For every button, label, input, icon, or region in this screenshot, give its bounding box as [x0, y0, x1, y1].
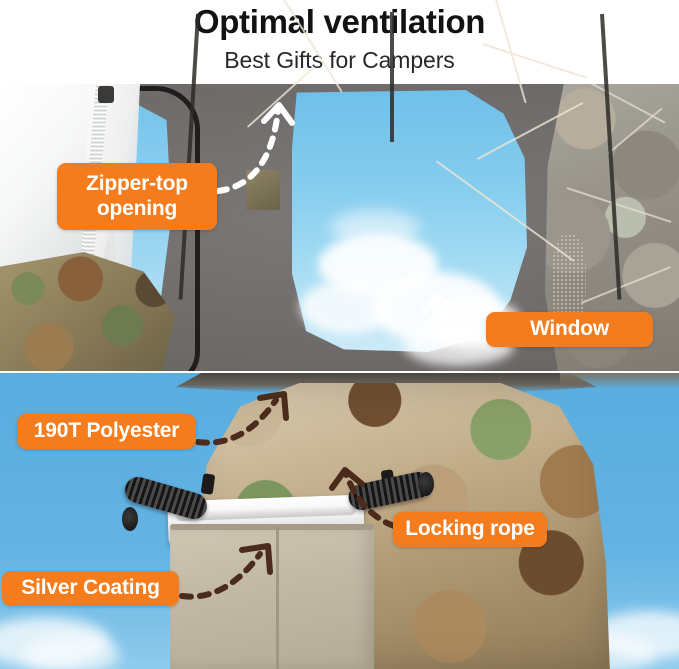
cloud-shape — [24, 635, 120, 669]
page-title: Optimal ventilation — [0, 0, 679, 44]
callout-label-zipper: Zipper-top opening — [86, 172, 188, 220]
header: Optimal ventilation Best Gifts for Campe… — [0, 0, 679, 84]
callout-badge-window[interactable]: Window — [486, 312, 653, 347]
door-panel-top-edge — [170, 524, 374, 530]
locking-rope-end-left — [122, 507, 138, 531]
fabric-tab-top — [246, 170, 280, 210]
callout-badge-locking-rope[interactable]: Locking rope — [393, 512, 547, 547]
locking-rope-end-right — [418, 472, 434, 496]
callout-badge-silver-coating[interactable]: Silver Coating — [2, 571, 179, 606]
tent-top-shadow — [560, 373, 679, 389]
callout-line-2: opening — [97, 197, 177, 220]
callout-badge-190t-polyester[interactable]: 190T Polyester — [17, 414, 196, 449]
callout-line-1: Zipper-top — [86, 172, 188, 195]
callout-badge-zipper-top-opening[interactable]: Zipper-top opening — [57, 163, 217, 230]
page-subtitle: Best Gifts for Campers — [0, 44, 679, 76]
infographic-page: Optimal ventilation Best Gifts for Campe… — [0, 0, 679, 669]
zipper-pull-icon — [98, 86, 114, 103]
rolled-door-panel — [170, 526, 374, 669]
tent-panel-seam — [390, 12, 394, 142]
door-panel-seam — [276, 526, 279, 669]
